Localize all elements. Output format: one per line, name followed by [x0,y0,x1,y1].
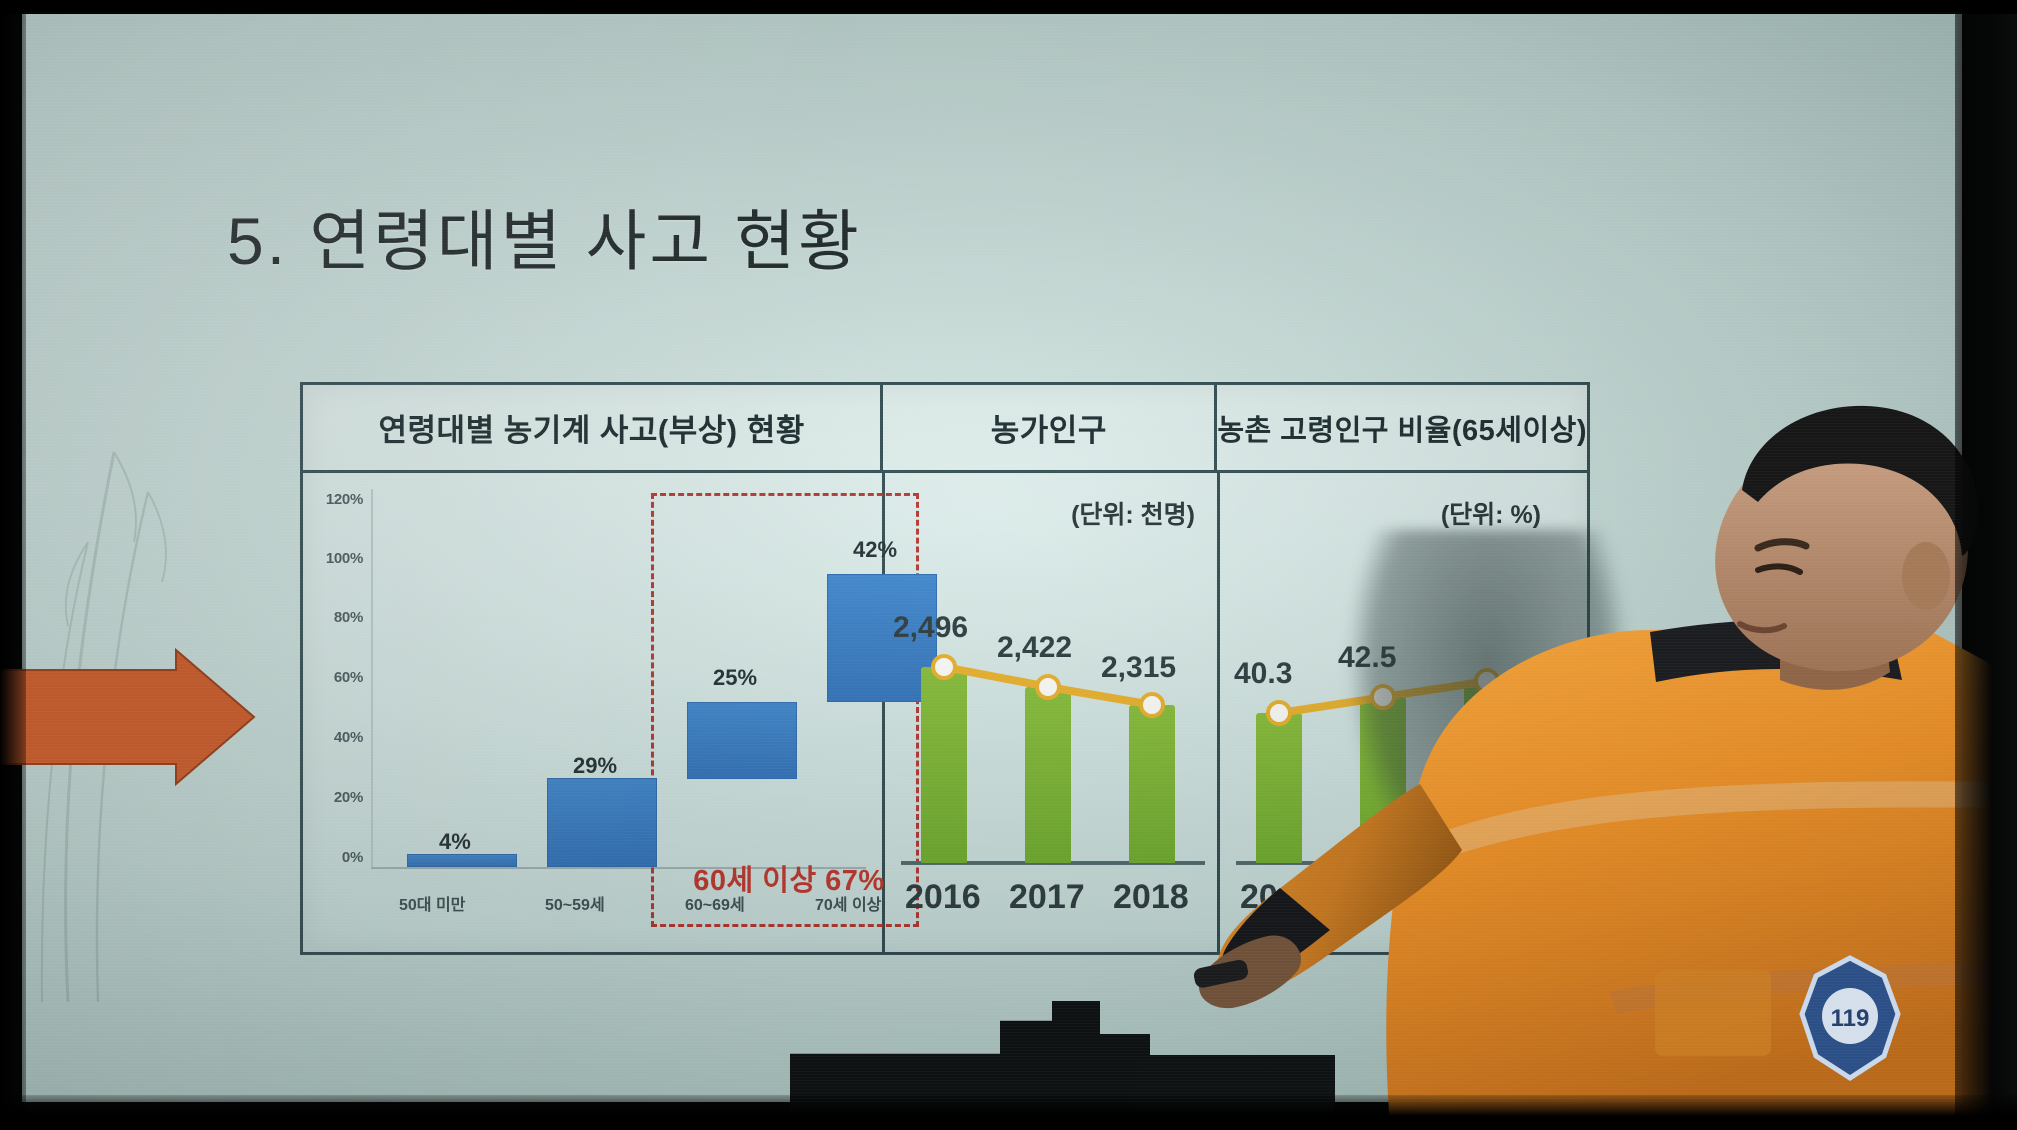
bar-under-50 [407,854,517,867]
room-top-edge [0,0,2017,14]
badge-text-119: 119 [1831,1005,1870,1032]
red-arrow-icon [0,648,258,786]
column-2016 [921,667,967,863]
x-year-2017: 2017 [1009,878,1085,917]
room-left-edge [0,0,26,1125]
presenter-ear [1902,542,1950,610]
y-tick-0: 0% [317,849,363,866]
value-label-2016: 2,496 [893,611,968,645]
y-tick-120: 120% [317,491,363,508]
x-label-50-59: 50~59세 [545,891,605,915]
y-axis-line [371,489,373,869]
chart-accidents-by-age: 120% 100% 80% 60% 40% 20% 0% [303,473,885,955]
bar-label-under-50: 4% [439,829,471,855]
chest-pocket [1655,970,1771,1056]
panel-header-accidents: 연령대별 농기계 사고(부상) 현황 [303,385,883,470]
y-tick-100: 100% [317,550,363,567]
y-tick-40: 40% [317,729,363,746]
room-background: 5. 연령대별 사고 현황 연령대별 농기계 사고(부상) 현황 농가인구 농촌… [0,0,2017,1125]
marker-2016 [931,654,957,680]
room-right-wall [1955,0,2017,1125]
x-label-70-plus: 70세 이상 [815,891,881,915]
page-title: 5. 연령대별 사고 현황 [227,188,862,284]
y-tick-20: 20% [317,789,363,806]
bar-50-59 [547,778,657,867]
y-tick-80: 80% [317,609,363,626]
decorative-grass-graphic [28,242,218,1002]
bar-60-69 [687,702,797,779]
presenter-figure: 119 [1090,380,2017,1125]
bar-plot-area: 4% 29% 25% 42% 60세 이상 67% [371,489,866,869]
value-label-2017: 2,422 [997,631,1072,665]
bar-label-60-69: 25% [713,665,757,691]
room-bottom-edge [0,1095,2017,1125]
y-tick-60: 60% [317,669,363,686]
x-label-under-50: 50대 미만 [399,891,465,915]
bar-label-50-59: 29% [573,753,617,779]
column-2017 [1025,687,1071,863]
marker-2017 [1035,674,1061,700]
x-year-2016: 2016 [905,878,981,917]
x-label-60-69: 60~69세 [685,891,745,915]
